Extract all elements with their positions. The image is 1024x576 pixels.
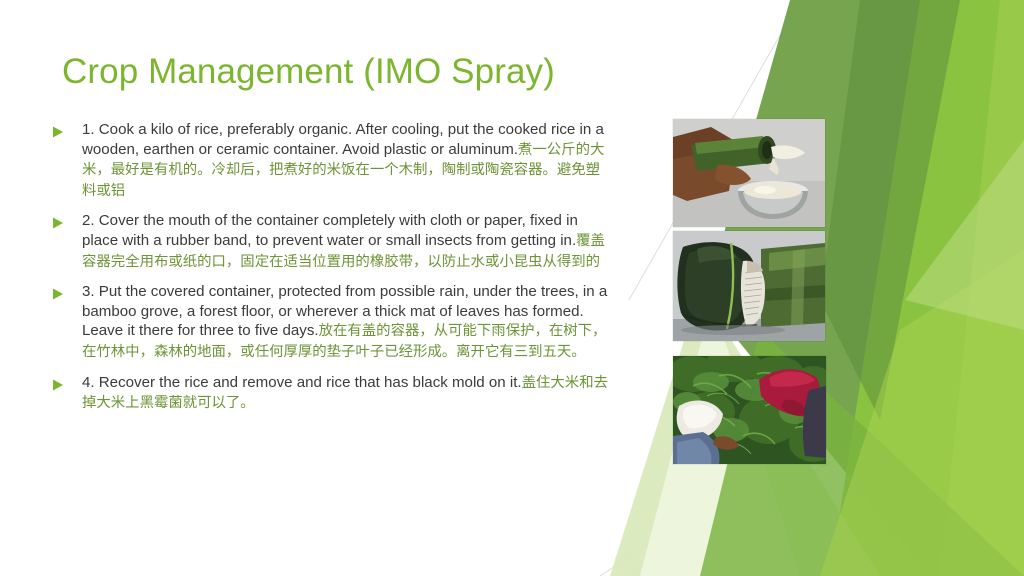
list-item-text-en: 4. Recover the rice and remove and rice … <box>82 374 522 391</box>
triangle-right-icon <box>52 120 82 138</box>
triangle-right-icon <box>52 373 82 391</box>
photo-bamboo-tube-pouring-rice <box>673 119 825 227</box>
list-item: 1. Cook a kilo of rice, preferably organ… <box>52 120 612 201</box>
photo-bamboo-grove-placement <box>673 356 826 464</box>
list-item-text: 3. Put the covered container, protected … <box>82 282 612 362</box>
list-item-text: 2. Cover the mouth of the container comp… <box>82 211 612 272</box>
list-item: 4. Recover the rice and remove and rice … <box>52 373 612 414</box>
triangle-right-icon <box>52 211 82 229</box>
list-item-text: 1. Cook a kilo of rice, preferably organ… <box>82 120 612 201</box>
photo-covered-bamboo-container <box>673 231 825 341</box>
list-item: 3. Put the covered container, protected … <box>52 282 612 362</box>
page-title: Crop Management (IMO Spray) <box>62 52 622 92</box>
bullet-list: 1. Cook a kilo of rice, preferably organ… <box>52 120 612 424</box>
triangle-right-icon <box>52 282 82 300</box>
list-item-text: 4. Recover the rice and remove and rice … <box>82 373 612 414</box>
list-item: 2. Cover the mouth of the container comp… <box>52 211 612 272</box>
slide-canvas: Crop Management (IMO Spray) 1. Cook a ki… <box>0 0 1024 576</box>
list-item-text-en: 2. Cover the mouth of the container comp… <box>82 212 578 249</box>
